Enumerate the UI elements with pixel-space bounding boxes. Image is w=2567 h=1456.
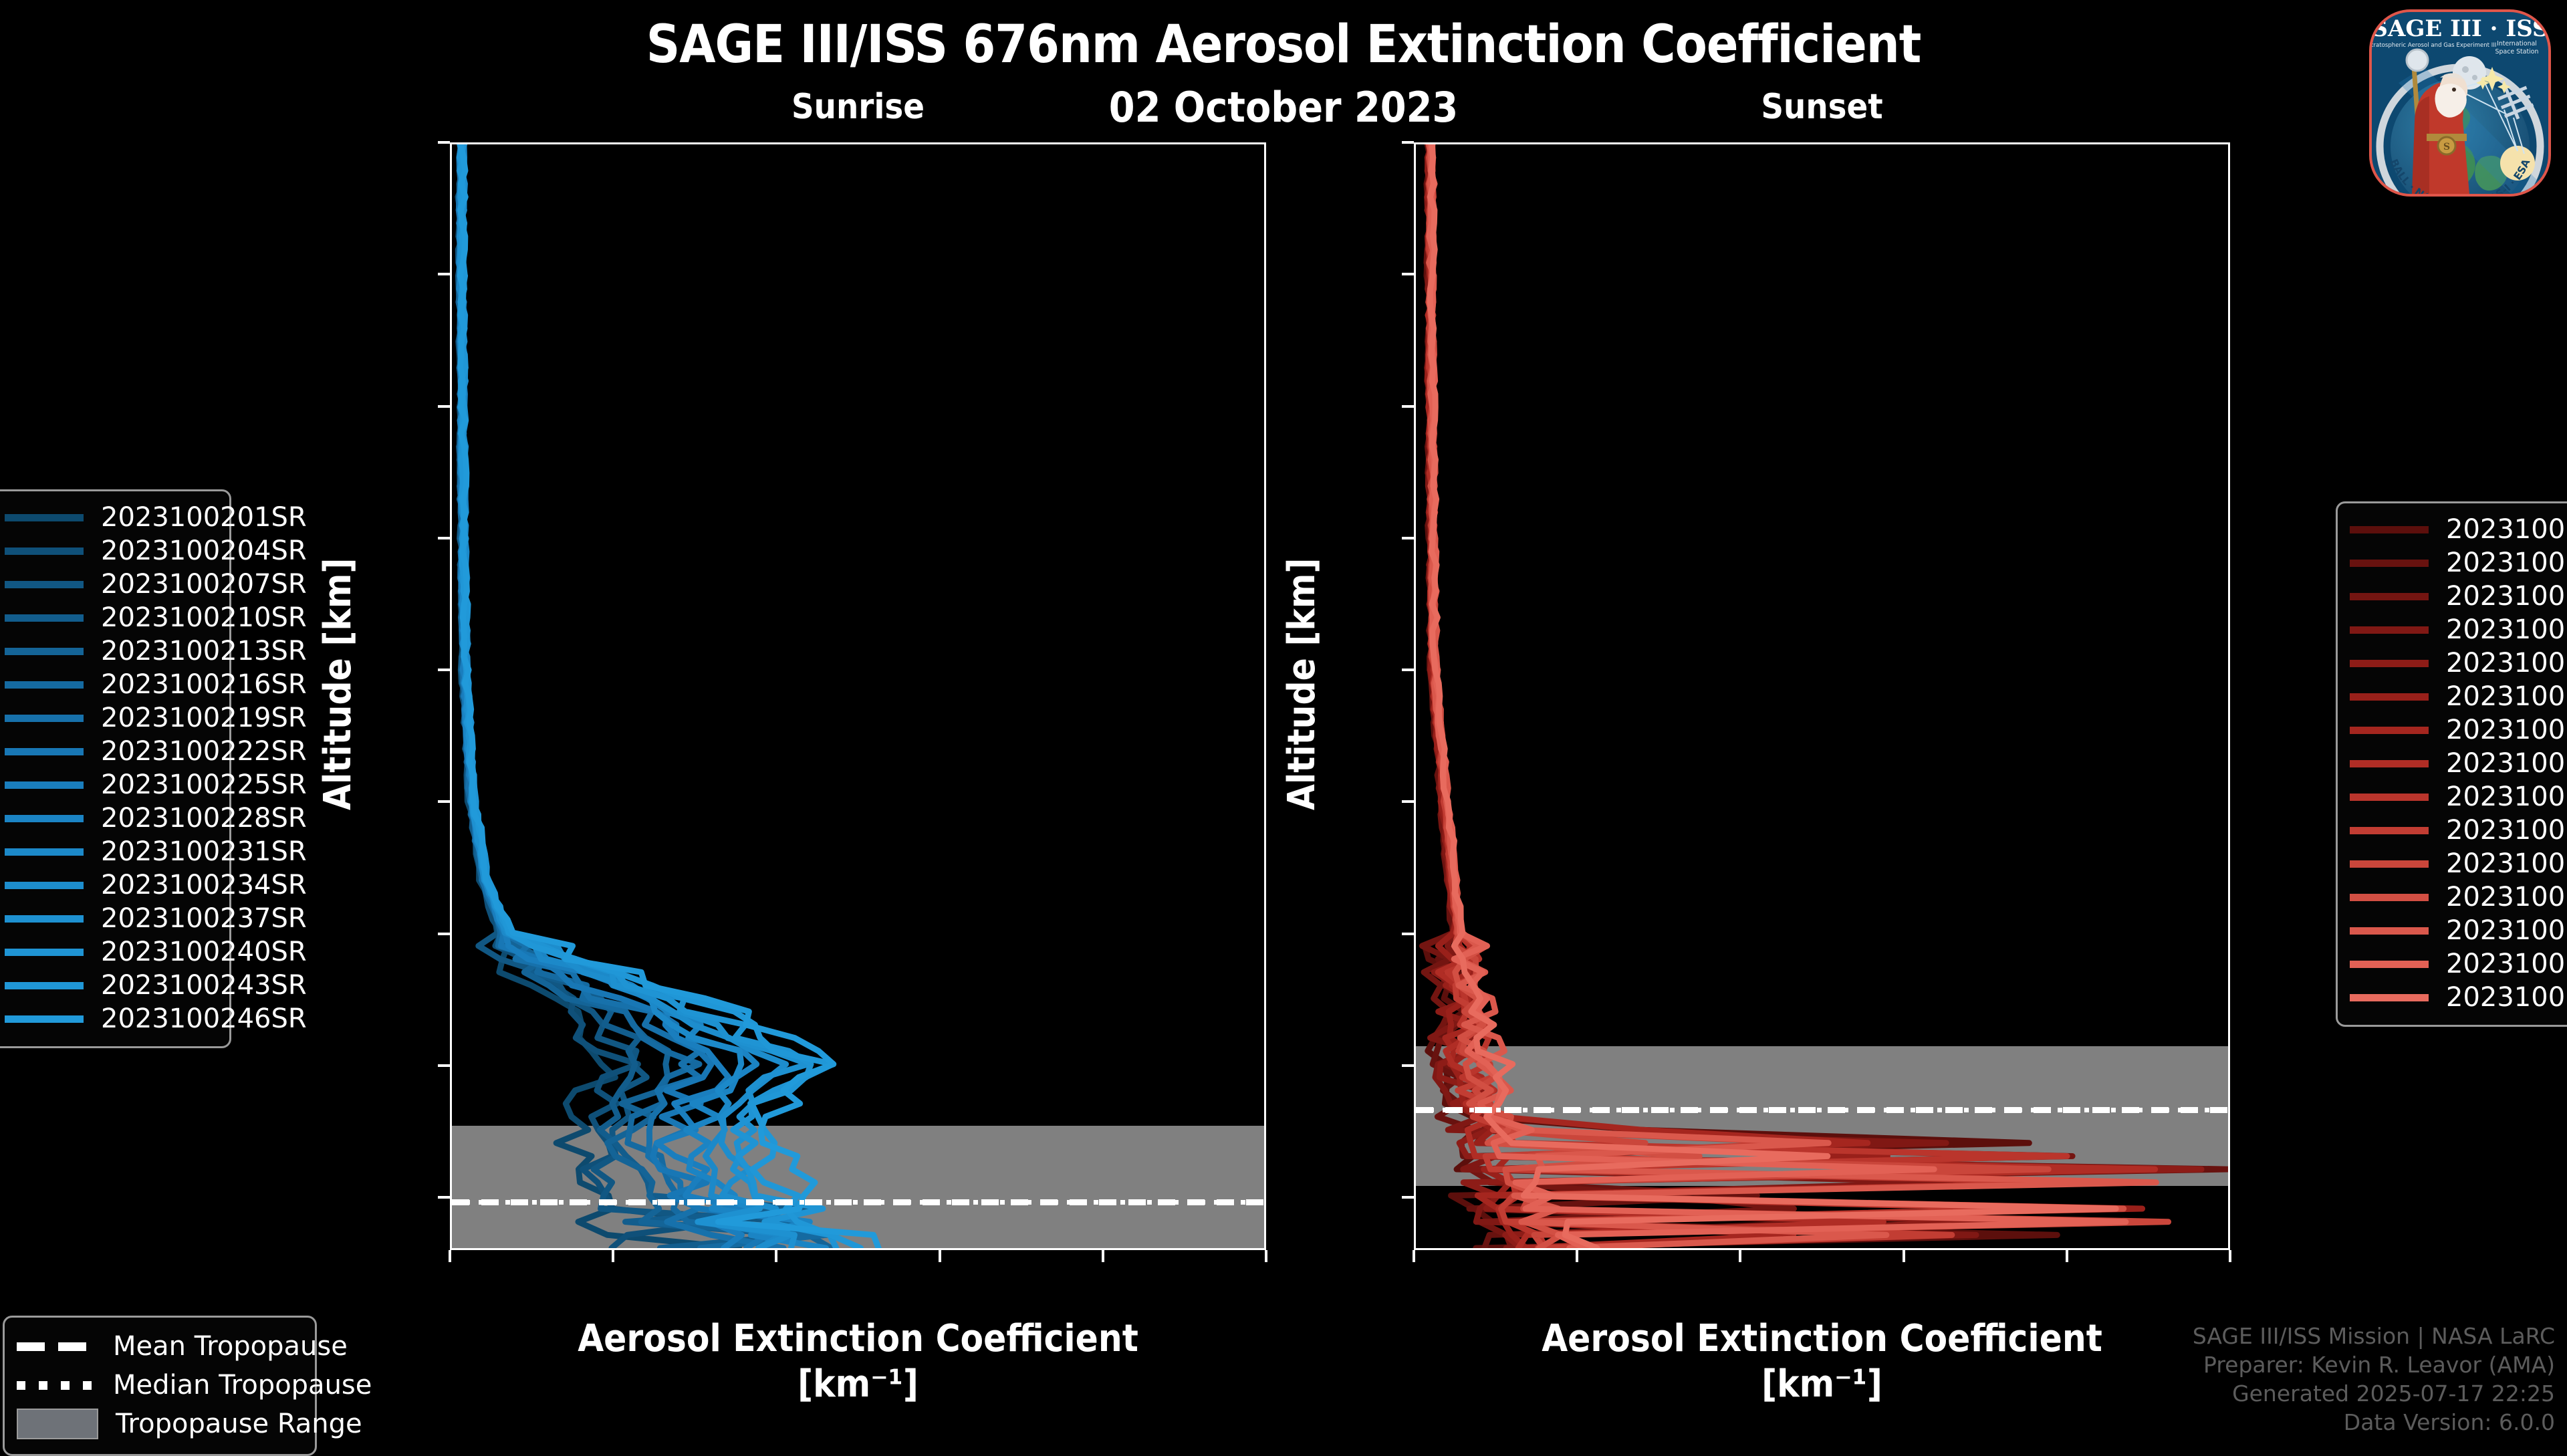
sunset-panel-title: Sunset bbox=[1414, 87, 2230, 127]
x-axis-tick-mark bbox=[939, 1250, 941, 1262]
credits-block: SAGE III/ISS Mission | NASA LaRC Prepare… bbox=[2193, 1322, 2555, 1437]
series-line bbox=[1427, 144, 2228, 1248]
series-line bbox=[1427, 144, 1976, 1248]
legend-item-label: 2023100201SR bbox=[101, 502, 307, 533]
series-line bbox=[1425, 144, 2098, 1248]
logo-subtitle-left: Stratospheric Aerosol and Gas Experiment… bbox=[2368, 42, 2497, 49]
tropopause-line-swatch bbox=[17, 1342, 96, 1351]
series-line bbox=[1429, 144, 2067, 1248]
legend-color-swatch bbox=[2350, 961, 2429, 968]
series-line bbox=[459, 144, 832, 1248]
y-axis-tick-mark bbox=[438, 1196, 450, 1199]
legend-color-swatch bbox=[5, 715, 84, 722]
legend-item[interactable]: 2023100236SS bbox=[2350, 880, 2562, 914]
legend-color-swatch bbox=[2350, 760, 2429, 767]
legend-color-swatch bbox=[5, 681, 84, 689]
y-axis-tick-mark bbox=[438, 273, 450, 275]
x-axis-tick-mark bbox=[612, 1250, 614, 1262]
tropopause-line-swatch bbox=[17, 1381, 96, 1390]
series-line bbox=[460, 144, 836, 1248]
legend-item-label: 2023100203SS bbox=[2446, 514, 2567, 545]
legend-item-label: 2023100216SR bbox=[101, 669, 307, 700]
logo-subtitle-right-1: International bbox=[2497, 40, 2537, 47]
y-axis-tick-mark bbox=[438, 405, 450, 408]
tropopause-range-swatch bbox=[17, 1409, 98, 1439]
legend-color-swatch bbox=[5, 781, 84, 789]
y-axis-title: Altitude [km] bbox=[316, 558, 360, 810]
x-axis-title: Aerosol Extinction Coefficient bbox=[450, 1317, 1266, 1360]
y-axis-tick-mark bbox=[1402, 800, 1414, 803]
legend-item-label: 2023100237SR bbox=[101, 903, 307, 934]
series-line bbox=[458, 144, 826, 1248]
sunset-plot-panel bbox=[1414, 142, 2230, 1250]
series-line bbox=[1427, 144, 2201, 1248]
legend-item[interactable]: 2023100243SR bbox=[5, 969, 217, 1002]
legend-item-label: 2023100231SR bbox=[101, 836, 307, 867]
x-axis-tick-mark bbox=[1413, 1250, 1415, 1262]
legend-item[interactable]: 2023100245SS bbox=[2350, 981, 2562, 1014]
legend-item-label: 2023100219SR bbox=[101, 703, 307, 733]
legend-color-swatch bbox=[2350, 927, 2429, 935]
legend-item[interactable]: 2023100218SS bbox=[2350, 680, 2562, 713]
mean-tropopause-line bbox=[452, 1199, 1264, 1205]
legend-item[interactable]: 2023100204SR bbox=[5, 534, 217, 568]
series-line bbox=[1428, 144, 2101, 1248]
sunrise-panel-title: Sunrise bbox=[450, 87, 1266, 127]
series-line bbox=[1422, 144, 2072, 1248]
x-axis-units: [km⁻¹] bbox=[450, 1362, 1266, 1406]
series-line bbox=[1429, 144, 2157, 1248]
legend-color-swatch bbox=[5, 514, 84, 521]
y-axis-tick-mark bbox=[1402, 405, 1414, 408]
credits-data-version: Data Version: 6.0.0 bbox=[2193, 1409, 2555, 1437]
x-axis-tick-mark bbox=[1265, 1250, 1267, 1262]
legend-item-label: 2023100210SR bbox=[101, 602, 307, 633]
legend-color-swatch bbox=[2350, 727, 2429, 734]
series-line bbox=[1428, 144, 2155, 1248]
y-axis-tick-mark bbox=[438, 800, 450, 803]
x-axis-tick-mark bbox=[2229, 1250, 2231, 1262]
y-axis-tick-mark bbox=[1402, 537, 1414, 539]
series-line bbox=[1429, 144, 2114, 1248]
legend-color-swatch bbox=[2350, 794, 2429, 801]
y-axis-tick-mark bbox=[438, 669, 450, 671]
legend-color-swatch bbox=[2350, 994, 2429, 1001]
sage-iii-iss-mission-patch-logo: S SAGE III · ISS Stratospheric Aerosol a… bbox=[2360, 3, 2560, 203]
profile-curves bbox=[452, 144, 1264, 1248]
series-line bbox=[1429, 144, 2126, 1248]
legend-item[interactable]: 2023100227SS bbox=[2350, 780, 2562, 814]
x-axis-tick-mark bbox=[2066, 1250, 2068, 1262]
legend-item-label: 2023100209SS bbox=[2446, 581, 2567, 612]
legend-item-label: 2023100206SS bbox=[2446, 548, 2567, 578]
tropopause-legend[interactable]: Mean TropopauseMedian TropopauseTropopau… bbox=[3, 1316, 317, 1456]
legend-item[interactable]: 2023100240SR bbox=[5, 935, 217, 969]
series-line bbox=[1427, 144, 2142, 1248]
tropopause-legend-label: Mean Tropopause bbox=[113, 1331, 348, 1362]
legend-item[interactable]: 2023100233SS bbox=[2350, 847, 2562, 880]
legend-item[interactable]: 2023100215SS bbox=[2350, 646, 2562, 680]
series-line bbox=[1429, 144, 2168, 1248]
legend-item[interactable]: 2023100234SR bbox=[5, 868, 217, 902]
legend-item-label: 2023100212SS bbox=[2446, 614, 2567, 645]
mean-tropopause-line bbox=[1416, 1107, 2228, 1113]
y-axis-tick-mark bbox=[1402, 1196, 1414, 1199]
legend-item-label: 2023100242SS bbox=[2446, 949, 2567, 979]
legend-item-label: 2023100224SS bbox=[2446, 748, 2567, 779]
credits-generated: Generated 2025-07-17 22:25 bbox=[2193, 1380, 2555, 1409]
legend-item-label: 2023100245SS bbox=[2446, 982, 2567, 1013]
series-line bbox=[1429, 144, 2123, 1248]
tropopause-legend-item[interactable]: Median Tropopause bbox=[17, 1366, 303, 1405]
legend-color-swatch bbox=[5, 581, 84, 588]
y-axis-tick-mark bbox=[1402, 141, 1414, 144]
legend-color-swatch bbox=[5, 1015, 84, 1023]
logo-subtitle-right-2: Space Station bbox=[2495, 48, 2539, 55]
legend-item[interactable]: 2023100216SR bbox=[5, 668, 217, 701]
legend-color-swatch bbox=[2350, 860, 2429, 868]
credits-preparer: Preparer: Kevin R. Leavor (AMA) bbox=[2193, 1351, 2555, 1380]
y-axis-tick-mark bbox=[1402, 1064, 1414, 1067]
legend-item-label: 2023100204SR bbox=[101, 535, 307, 566]
legend-item[interactable]: 2023100230SS bbox=[2350, 814, 2562, 847]
legend-item-label: 2023100218SS bbox=[2446, 681, 2567, 712]
series-line bbox=[460, 144, 878, 1248]
legend-item-label: 2023100240SR bbox=[101, 937, 307, 967]
page-title: SAGE III/ISS 676nm Aerosol Extinction Co… bbox=[0, 15, 2567, 75]
x-axis-tick-mark bbox=[449, 1250, 451, 1262]
sunrise-legend[interactable]: 2023100201SR2023100204SR2023100207SR2023… bbox=[0, 489, 231, 1048]
legend-color-swatch bbox=[5, 882, 84, 889]
legend-color-swatch bbox=[5, 548, 84, 555]
legend-item-label: 2023100246SR bbox=[101, 1003, 307, 1034]
legend-item-label: 2023100225SR bbox=[101, 769, 307, 800]
legend-item-label: 2023100230SS bbox=[2446, 815, 2567, 846]
y-axis-tick-mark bbox=[1402, 933, 1414, 935]
legend-item[interactable]: 2023100237SR bbox=[5, 902, 217, 935]
legend-item[interactable]: 2023100242SS bbox=[2350, 947, 2562, 981]
legend-item-label: 2023100233SS bbox=[2446, 848, 2567, 879]
legend-color-swatch bbox=[2350, 894, 2429, 901]
legend-color-swatch bbox=[5, 982, 84, 989]
legend-color-swatch bbox=[5, 949, 84, 956]
legend-item-label: 2023100243SR bbox=[101, 970, 307, 1001]
legend-color-swatch bbox=[2350, 693, 2429, 701]
legend-color-swatch bbox=[5, 815, 84, 822]
legend-color-swatch bbox=[5, 748, 84, 755]
legend-item[interactable]: 2023100203SS bbox=[2350, 513, 2562, 546]
logo-title: SAGE III · ISS bbox=[2371, 15, 2548, 42]
legend-item-label: 2023100234SR bbox=[101, 870, 307, 900]
legend-item-label: 2023100227SS bbox=[2446, 781, 2567, 812]
x-axis-tick-mark bbox=[1102, 1250, 1104, 1262]
legend-item[interactable]: 2023100225SR bbox=[5, 768, 217, 802]
legend-item[interactable]: 2023100219SR bbox=[5, 701, 217, 735]
y-axis-tick-mark bbox=[438, 933, 450, 935]
legend-item[interactable]: 2023100209SS bbox=[2350, 580, 2562, 613]
x-axis-tick-mark bbox=[1739, 1250, 1741, 1262]
legend-item-label: 2023100222SR bbox=[101, 736, 307, 767]
tropopause-legend-label: Median Tropopause bbox=[113, 1370, 372, 1401]
legend-color-swatch bbox=[2350, 593, 2429, 600]
legend-item-label: 2023100207SR bbox=[101, 569, 307, 600]
tropopause-legend-label: Tropopause Range bbox=[116, 1409, 362, 1439]
y-axis-tick-mark bbox=[438, 141, 450, 144]
legend-item[interactable]: 2023100222SR bbox=[5, 735, 217, 768]
legend-item[interactable]: 2023100210SR bbox=[5, 601, 217, 634]
legend-item[interactable]: 2023100206SS bbox=[2350, 546, 2562, 580]
legend-item[interactable]: 2023100231SR bbox=[5, 835, 217, 868]
legend-color-swatch bbox=[5, 614, 84, 622]
legend-item[interactable]: 2023100246SR bbox=[5, 1002, 217, 1036]
legend-color-swatch bbox=[2350, 660, 2429, 667]
legend-item[interactable]: 2023100201SR bbox=[5, 501, 217, 534]
legend-item[interactable]: 2023100221SS bbox=[2350, 713, 2562, 747]
x-axis-units: [km⁻¹] bbox=[1414, 1362, 2230, 1406]
legend-item[interactable]: 2023100207SR bbox=[5, 568, 217, 601]
legend-item[interactable]: 2023100224SS bbox=[2350, 747, 2562, 780]
y-axis-tick-mark bbox=[1402, 273, 1414, 275]
legend-color-swatch bbox=[5, 915, 84, 923]
legend-item-label: 2023100215SS bbox=[2446, 648, 2567, 679]
credits-mission: SAGE III/ISS Mission | NASA LaRC bbox=[2193, 1322, 2555, 1351]
y-axis-tick-mark bbox=[438, 537, 450, 539]
sunrise-plot-panel bbox=[450, 142, 1266, 1250]
legend-item[interactable]: 2023100212SS bbox=[2350, 613, 2562, 646]
legend-color-swatch bbox=[5, 648, 84, 655]
legend-color-swatch bbox=[5, 848, 84, 856]
tropopause-legend-item[interactable]: Tropopause Range bbox=[17, 1405, 303, 1443]
legend-item-label: 2023100236SS bbox=[2446, 882, 2567, 913]
y-axis-title: Altitude [km] bbox=[1280, 558, 1324, 810]
legend-item-label: 2023100221SS bbox=[2446, 715, 2567, 745]
series-line bbox=[1430, 144, 2116, 1248]
legend-item-label: 2023100213SR bbox=[101, 636, 307, 666]
legend-item[interactable]: 2023100239SS bbox=[2350, 914, 2562, 947]
y-axis-tick-mark bbox=[438, 1064, 450, 1067]
y-axis-tick-mark bbox=[1402, 669, 1414, 671]
legend-color-swatch bbox=[2350, 560, 2429, 567]
legend-color-swatch bbox=[2350, 827, 2429, 834]
x-axis-tick-mark bbox=[1903, 1250, 1905, 1262]
legend-item-label: 2023100228SR bbox=[101, 803, 307, 834]
legend-item[interactable]: 2023100228SR bbox=[5, 802, 217, 835]
x-axis-tick-mark bbox=[1576, 1250, 1578, 1262]
x-axis-title: Aerosol Extinction Coefficient bbox=[1414, 1317, 2230, 1360]
legend-item-label: 2023100239SS bbox=[2446, 915, 2567, 946]
legend-color-swatch bbox=[2350, 526, 2429, 533]
legend-color-swatch bbox=[2350, 626, 2429, 634]
profile-curves bbox=[1416, 144, 2228, 1248]
x-axis-tick-mark bbox=[775, 1250, 777, 1262]
legend-item[interactable]: 2023100213SR bbox=[5, 634, 217, 668]
svg-text:S: S bbox=[2443, 142, 2450, 152]
tropopause-legend-item[interactable]: Mean Tropopause bbox=[17, 1327, 303, 1366]
sunset-legend[interactable]: 2023100203SS2023100206SS2023100209SS2023… bbox=[2336, 501, 2567, 1027]
